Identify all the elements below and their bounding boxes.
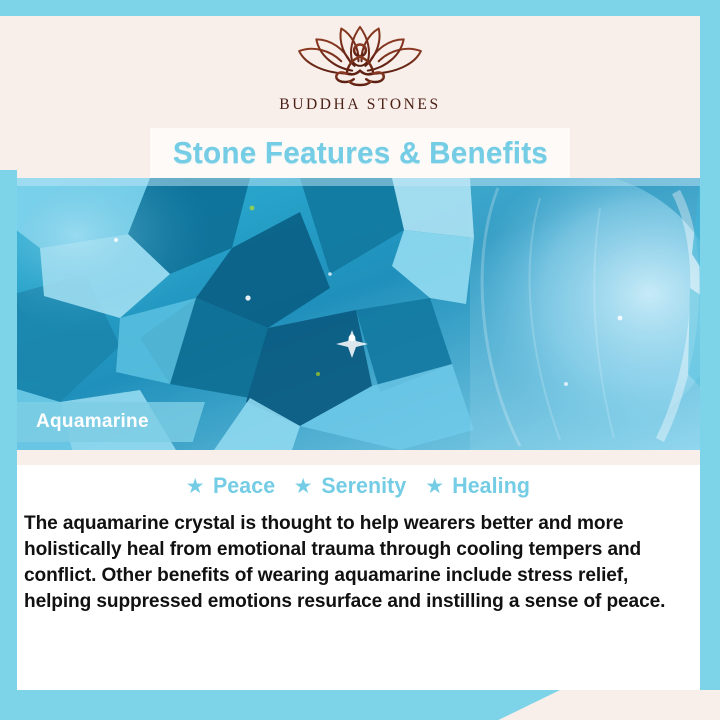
benefit-keywords: ★ Peace ★ Serenity ★ Healing — [17, 465, 700, 499]
keyword-item: ★ Peace — [186, 473, 276, 499]
brand-name: BUDDHA STONES — [279, 96, 440, 114]
frame-band-left — [0, 170, 17, 720]
stone-name-label: Aquamarine — [0, 411, 149, 433]
page-title: Stone Features & Benefits — [172, 135, 547, 171]
keyword-label: Peace — [213, 473, 275, 499]
frame-band-bottom — [0, 690, 560, 720]
brand-logo: BUDDHA STONES — [0, 16, 720, 128]
hero-image: Aquamarine — [0, 178, 720, 450]
star-icon: ★ — [186, 476, 205, 497]
keyword-label: Healing — [452, 473, 530, 499]
description-text: The aquamarine crystal is thought to hel… — [17, 511, 700, 616]
hero-caption-bar: Aquamarine — [0, 402, 205, 442]
keyword-label: Serenity — [321, 473, 406, 499]
keyword-item: ★ Healing — [425, 473, 531, 499]
star-icon: ★ — [294, 476, 313, 497]
lotus-meditation-icon — [280, 16, 440, 94]
frame-band-top — [0, 0, 720, 16]
star-icon: ★ — [425, 476, 444, 497]
keyword-item: ★ Serenity — [294, 473, 407, 499]
frame-band-right — [700, 0, 720, 690]
title-banner: Stone Features & Benefits — [150, 128, 570, 178]
stone-benefits-infographic: BUDDHA STONES Stone Features & Benefits — [0, 0, 720, 720]
separator-band — [0, 450, 720, 465]
content-panel: ★ Peace ★ Serenity ★ Healing The aquamar… — [17, 465, 700, 690]
